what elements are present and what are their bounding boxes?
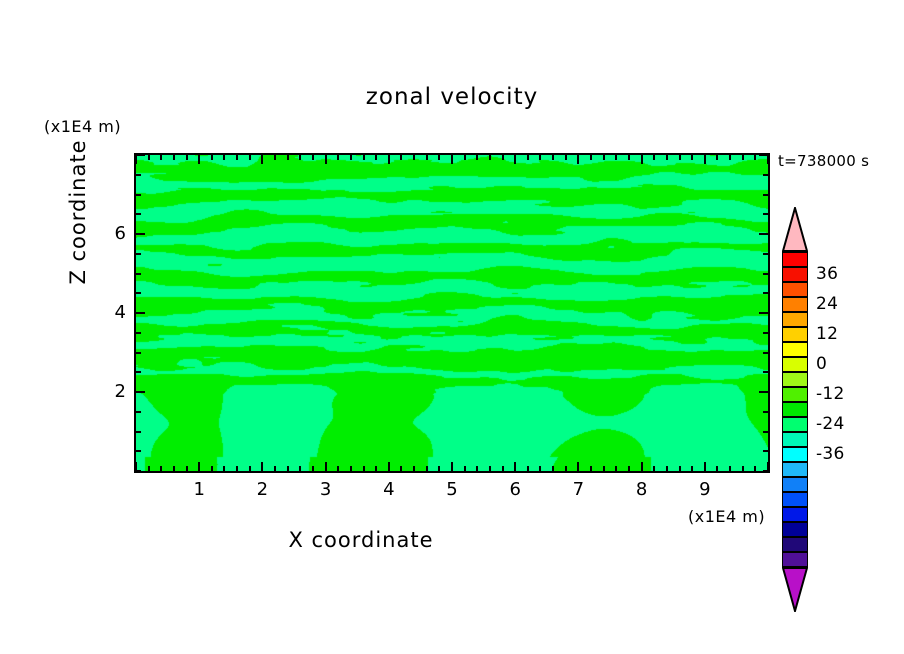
y-tick-right bbox=[759, 312, 768, 314]
x-tick bbox=[438, 466, 440, 471]
x-tick-top bbox=[173, 155, 175, 160]
x-tick bbox=[590, 466, 592, 471]
x-tick-top bbox=[679, 155, 681, 160]
x-tick-label: 4 bbox=[374, 479, 404, 500]
x-tick bbox=[400, 466, 402, 471]
x-tick-top bbox=[287, 155, 289, 160]
x-tick-top bbox=[388, 155, 390, 164]
x-tick bbox=[160, 466, 162, 471]
y-tick bbox=[136, 431, 141, 433]
y-tick bbox=[136, 213, 141, 215]
x-tick bbox=[539, 466, 541, 471]
x-tick-top bbox=[514, 155, 516, 164]
colorbar-label: 0 bbox=[816, 354, 827, 374]
x-tick bbox=[261, 462, 263, 471]
x-tick bbox=[691, 466, 693, 471]
y-tick-label: 4 bbox=[96, 302, 126, 323]
y-tick-right bbox=[759, 233, 768, 235]
x-tick bbox=[173, 466, 175, 471]
x-tick-label: 8 bbox=[627, 479, 657, 500]
x-tick-top bbox=[337, 155, 339, 160]
x-tick-top bbox=[135, 155, 137, 164]
x-tick-label: 3 bbox=[311, 479, 341, 500]
colorbar-label: -24 bbox=[816, 414, 845, 434]
y-axis-title: Z coordinate bbox=[66, 92, 90, 332]
y-tick bbox=[136, 391, 145, 393]
x-tick-top bbox=[198, 155, 200, 164]
x-tick bbox=[653, 466, 655, 471]
x-tick-top bbox=[223, 155, 225, 160]
x-tick bbox=[502, 466, 504, 471]
x-tick-top bbox=[565, 155, 567, 160]
x-tick-top bbox=[363, 155, 365, 160]
y-tick-right bbox=[763, 450, 768, 452]
x-tick-label: 2 bbox=[247, 479, 277, 500]
x-tick-top bbox=[603, 155, 605, 160]
x-tick-top bbox=[653, 155, 655, 160]
y-tick bbox=[136, 470, 141, 472]
x-tick bbox=[388, 462, 390, 471]
x-tick-label: 7 bbox=[563, 479, 593, 500]
x-tick bbox=[299, 466, 301, 471]
y-tick bbox=[136, 292, 141, 294]
x-tick bbox=[249, 466, 251, 471]
x-tick bbox=[476, 466, 478, 471]
colorbar-label: -36 bbox=[816, 444, 845, 464]
x-tick bbox=[603, 466, 605, 471]
x-tick bbox=[552, 466, 554, 471]
y-tick bbox=[136, 352, 141, 354]
x-tick bbox=[527, 466, 529, 471]
x-tick bbox=[186, 466, 188, 471]
x-tick bbox=[716, 466, 718, 471]
x-tick bbox=[223, 466, 225, 471]
colorbar-segment bbox=[782, 462, 808, 477]
x-tick bbox=[312, 466, 314, 471]
x-axis-title: X coordinate bbox=[0, 528, 722, 552]
x-tick-top bbox=[375, 155, 377, 160]
x-tick-top bbox=[464, 155, 466, 160]
x-tick-top bbox=[476, 155, 478, 160]
page-title: zonal velocity bbox=[0, 84, 904, 110]
colorbar-segment bbox=[782, 282, 808, 297]
y-tick bbox=[136, 371, 141, 373]
y-tick bbox=[136, 253, 141, 255]
y-tick bbox=[136, 450, 141, 452]
x-tick bbox=[451, 462, 453, 471]
y-tick-right bbox=[763, 332, 768, 334]
x-tick-top bbox=[641, 155, 643, 164]
colorbar-segment bbox=[782, 327, 808, 342]
x-tick-top bbox=[299, 155, 301, 160]
colorbar-segment bbox=[782, 252, 808, 267]
colorbar-segment bbox=[782, 357, 808, 372]
x-tick-top bbox=[426, 155, 428, 160]
x-tick-top bbox=[704, 155, 706, 164]
y-tick-label: 2 bbox=[96, 381, 126, 402]
x-tick bbox=[729, 466, 731, 471]
x-tick-top bbox=[438, 155, 440, 160]
x-tick bbox=[641, 462, 643, 471]
x-tick bbox=[628, 466, 630, 471]
x-tick-top bbox=[236, 155, 238, 160]
x-tick-label: 1 bbox=[184, 479, 214, 500]
colorbar-segment bbox=[782, 402, 808, 417]
x-tick-top bbox=[413, 155, 415, 160]
colorbar[interactable]: 3624120-12-24-36 bbox=[782, 207, 902, 522]
y-tick-right bbox=[763, 194, 768, 196]
x-tick bbox=[426, 466, 428, 471]
x-tick-top bbox=[666, 155, 668, 160]
colorbar-segment bbox=[782, 297, 808, 312]
x-tick-top bbox=[489, 155, 491, 160]
x-tick-top bbox=[628, 155, 630, 160]
y-tick-right bbox=[763, 431, 768, 433]
y-tick-label: 6 bbox=[96, 223, 126, 244]
colorbar-segment bbox=[782, 522, 808, 537]
x-tick-top bbox=[186, 155, 188, 160]
x-tick-label: 6 bbox=[500, 479, 530, 500]
y-tick bbox=[136, 273, 141, 275]
x-tick-top bbox=[742, 155, 744, 160]
colorbar-label: 24 bbox=[816, 294, 838, 314]
y-tick bbox=[136, 154, 145, 156]
colorbar-segment bbox=[782, 492, 808, 507]
y-tick-right bbox=[759, 391, 768, 393]
x-tick bbox=[615, 466, 617, 471]
colorbar-segment bbox=[782, 267, 808, 282]
x-tick bbox=[464, 466, 466, 471]
colorbar-segment bbox=[782, 507, 808, 522]
colorbar-segment bbox=[782, 312, 808, 327]
contour-plot-area[interactable] bbox=[134, 153, 770, 473]
colorbar-segment bbox=[782, 537, 808, 552]
y-tick-right bbox=[763, 292, 768, 294]
x-tick bbox=[363, 466, 365, 471]
x-tick bbox=[742, 466, 744, 471]
colorbar-segment bbox=[782, 342, 808, 357]
x-tick-top bbox=[160, 155, 162, 160]
x-tick bbox=[198, 462, 200, 471]
x-tick bbox=[325, 462, 327, 471]
y-tick bbox=[136, 312, 145, 314]
x-tick-top bbox=[691, 155, 693, 160]
x-tick bbox=[236, 466, 238, 471]
x-tick-top bbox=[527, 155, 529, 160]
x-tick-top bbox=[400, 155, 402, 160]
x-tick-top bbox=[350, 155, 352, 160]
x-tick bbox=[565, 466, 567, 471]
y-tick-right bbox=[763, 253, 768, 255]
colorbar-under-arrow-icon bbox=[782, 567, 808, 612]
x-tick bbox=[754, 466, 756, 471]
x-tick-top bbox=[716, 155, 718, 160]
x-tick bbox=[679, 466, 681, 471]
x-tick-top bbox=[211, 155, 213, 160]
x-tick bbox=[375, 466, 377, 471]
y-tick bbox=[136, 174, 141, 176]
y-tick bbox=[136, 332, 141, 334]
x-tick-top bbox=[754, 155, 756, 160]
y-tick-right bbox=[763, 273, 768, 275]
contour-field bbox=[136, 155, 768, 471]
colorbar-segment bbox=[782, 432, 808, 447]
y-tick-right bbox=[763, 352, 768, 354]
colorbar-label: 36 bbox=[816, 264, 838, 284]
x-tick-top bbox=[577, 155, 579, 164]
x-tick bbox=[287, 466, 289, 471]
timestamp-label: t=738000 s bbox=[778, 152, 869, 170]
x-tick-top bbox=[590, 155, 592, 160]
x-tick-top bbox=[502, 155, 504, 160]
x-tick bbox=[577, 462, 579, 471]
colorbar-segment bbox=[782, 477, 808, 492]
x-tick-top bbox=[767, 155, 769, 164]
y-tick-right bbox=[763, 470, 768, 472]
x-tick bbox=[337, 466, 339, 471]
colorbar-segment bbox=[782, 447, 808, 462]
colorbar-segment bbox=[782, 387, 808, 402]
x-tick bbox=[274, 466, 276, 471]
y-tick-right bbox=[763, 371, 768, 373]
colorbar-segments bbox=[782, 252, 808, 567]
x-tick bbox=[666, 466, 668, 471]
y-tick-right bbox=[763, 174, 768, 176]
colorbar-segment bbox=[782, 417, 808, 432]
x-tick-label: 5 bbox=[437, 479, 467, 500]
x-tick-top bbox=[539, 155, 541, 160]
y-tick bbox=[136, 194, 141, 196]
x-tick-top bbox=[451, 155, 453, 164]
x-tick bbox=[489, 466, 491, 471]
x-tick-top bbox=[552, 155, 554, 160]
y-tick bbox=[136, 233, 145, 235]
x-tick-top bbox=[729, 155, 731, 160]
y-tick bbox=[136, 411, 141, 413]
colorbar-segment bbox=[782, 552, 808, 567]
y-tick-right bbox=[763, 411, 768, 413]
y-tick-right bbox=[759, 154, 768, 156]
x-tick-top bbox=[615, 155, 617, 160]
x-tick-top bbox=[325, 155, 327, 164]
x-tick bbox=[704, 462, 706, 471]
colorbar-label: 12 bbox=[816, 324, 838, 344]
x-tick-top bbox=[274, 155, 276, 160]
x-tick bbox=[148, 466, 150, 471]
x-tick bbox=[514, 462, 516, 471]
x-tick-top bbox=[148, 155, 150, 160]
colorbar-over-arrow-icon bbox=[782, 207, 808, 252]
x-tick bbox=[350, 466, 352, 471]
x-tick bbox=[413, 466, 415, 471]
y-tick-right bbox=[763, 213, 768, 215]
x-tick-top bbox=[312, 155, 314, 160]
x-tick bbox=[211, 466, 213, 471]
colorbar-label: -12 bbox=[816, 384, 845, 404]
colorbar-segment bbox=[782, 372, 808, 387]
x-tick-label: 9 bbox=[690, 479, 720, 500]
x-tick-top bbox=[249, 155, 251, 160]
x-tick-top bbox=[261, 155, 263, 164]
x-axis-units: (x1E4 m) bbox=[688, 507, 765, 526]
